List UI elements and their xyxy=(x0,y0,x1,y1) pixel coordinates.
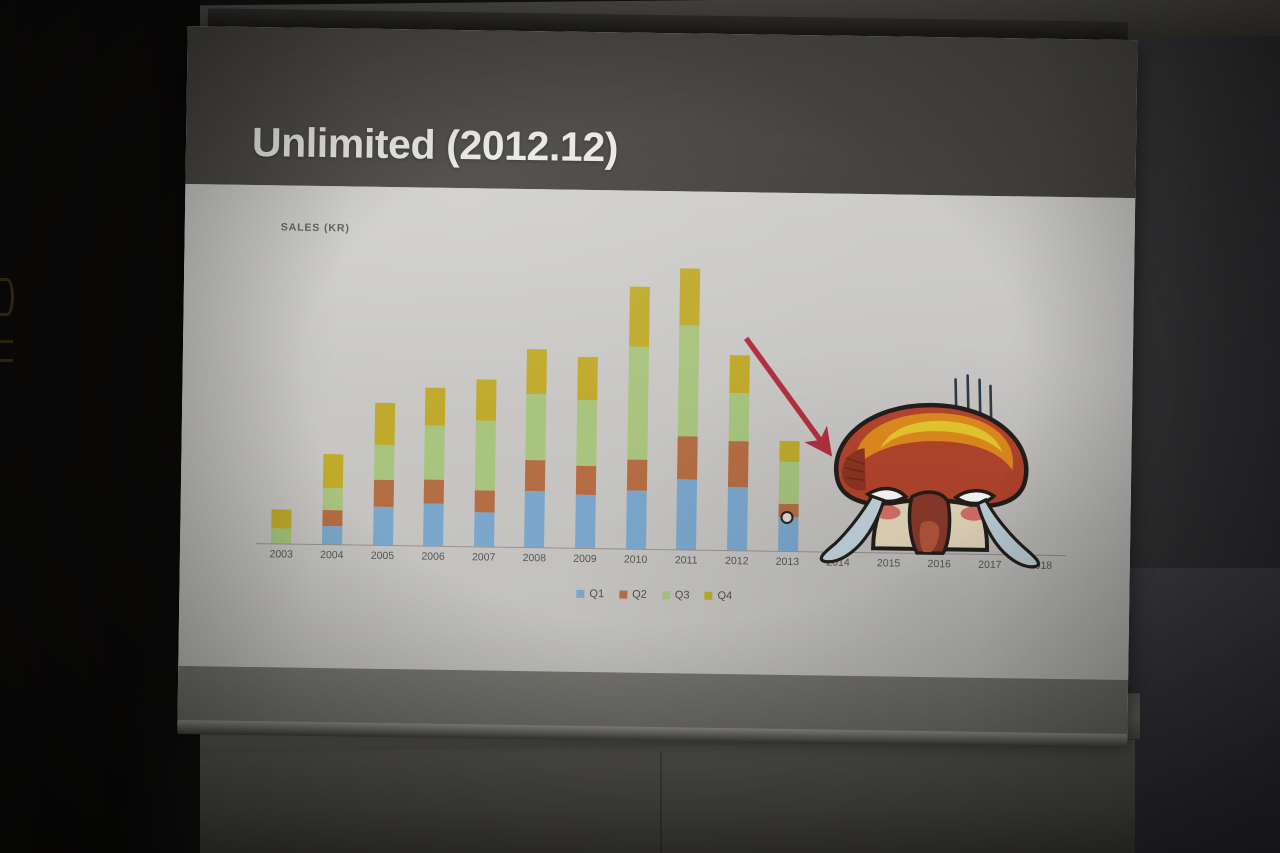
legend-label: Q3 xyxy=(675,589,690,601)
chart-legend: Q1Q2Q3Q4 xyxy=(179,582,1129,608)
legend-swatch-q4-icon xyxy=(704,592,712,600)
crying-mushroom-illustration xyxy=(795,371,1068,575)
bar-2004 xyxy=(322,454,343,544)
bar-segment-q2 xyxy=(677,436,698,479)
bar-segment-q2 xyxy=(525,460,545,492)
bar-segment-q1 xyxy=(524,491,545,547)
bar-segment-q3 xyxy=(576,399,597,465)
bar-2007 xyxy=(474,379,496,547)
presentation-slide: Unlimited (2012.12) SALES (KR) 200320042… xyxy=(177,26,1137,740)
legend-item-q3[interactable]: Q3 xyxy=(662,589,690,601)
x-tick-2007: 2007 xyxy=(458,551,509,564)
bar-segment-q3 xyxy=(526,394,547,460)
legend-swatch-q2-icon xyxy=(619,590,627,598)
bar-segment-q4 xyxy=(323,454,344,489)
bar-segment-q1 xyxy=(474,512,495,547)
legend-swatch-q1-icon xyxy=(576,590,584,598)
legend-item-q4[interactable]: Q4 xyxy=(704,590,732,602)
x-tick-2010: 2010 xyxy=(610,553,661,566)
bar-segment-q3 xyxy=(424,425,445,480)
bar-segment-q1 xyxy=(626,490,647,549)
bar-segment-q3 xyxy=(678,325,700,437)
bar-segment-q2 xyxy=(322,510,342,527)
bar-segment-q4 xyxy=(629,286,650,347)
bar-2010 xyxy=(626,286,650,549)
bar-segment-q4 xyxy=(272,509,292,528)
page-title: Unlimited (2012.12) xyxy=(252,119,619,171)
bar-segment-q3 xyxy=(627,347,649,460)
legend-swatch-q3-icon xyxy=(662,591,670,599)
x-tick-2012: 2012 xyxy=(711,555,762,568)
lower-wall xyxy=(175,740,1135,853)
bar-segment-q4 xyxy=(527,349,548,394)
wall-seam xyxy=(660,752,662,852)
x-tick-2003: 2003 xyxy=(256,548,307,561)
legend-item-q1[interactable]: Q1 xyxy=(576,588,604,600)
left-dark-wall xyxy=(0,0,200,853)
projection-screen-assembly: Unlimited (2012.12) SALES (KR) 200320042… xyxy=(177,8,1138,754)
legend-label: Q4 xyxy=(717,590,732,602)
bar-segment-q2 xyxy=(576,465,596,494)
bar-2009 xyxy=(575,356,598,548)
bar-segment-q2 xyxy=(474,491,494,513)
bar-2008 xyxy=(524,349,547,547)
x-tick-2004: 2004 xyxy=(306,549,357,562)
bar-segment-q2 xyxy=(373,480,393,507)
projection-screen-surface: Unlimited (2012.12) SALES (KR) 200320042… xyxy=(177,26,1137,740)
legend-label: Q2 xyxy=(632,589,647,601)
gold-wall-marking-secondary-icon xyxy=(0,340,13,362)
legend-label: Q1 xyxy=(589,588,604,600)
bar-segment-q3 xyxy=(475,421,496,491)
bar-segment-q4 xyxy=(425,387,446,425)
legend-item-q2[interactable]: Q2 xyxy=(619,588,647,600)
bar-2005 xyxy=(373,403,395,545)
x-tick-2008: 2008 xyxy=(509,552,560,565)
bar-segment-q3 xyxy=(323,488,343,510)
stacked-bar-chart: SALES (KR) 20032004200520062007200820092… xyxy=(178,184,1135,680)
bar-segment-q1 xyxy=(322,526,342,544)
bar-segment-q1 xyxy=(727,487,748,551)
bar-segment-q2 xyxy=(424,480,444,504)
bar-segment-q1 xyxy=(373,507,394,545)
y-axis-label: SALES (KR) xyxy=(281,221,350,234)
conference-room-scene: Unlimited (2012.12) SALES (KR) 200320042… xyxy=(0,0,1280,853)
bar-2006 xyxy=(423,387,445,546)
tear-droplet-icon xyxy=(780,511,793,524)
bar-segment-q4 xyxy=(680,268,701,325)
slide-header-band: Unlimited (2012.12) xyxy=(185,26,1137,198)
x-tick-2006: 2006 xyxy=(408,550,459,563)
bar-segment-q1 xyxy=(575,495,596,549)
slide-body: SALES (KR) 20032004200520062007200820092… xyxy=(178,184,1135,680)
gold-wall-marking-icon xyxy=(0,278,14,316)
right-wall-lower-panel xyxy=(1128,568,1280,853)
bar-segment-q4 xyxy=(476,379,497,421)
bar-2003 xyxy=(271,509,292,544)
bar-segment-q3 xyxy=(271,528,291,543)
bar-2011 xyxy=(676,268,700,550)
x-tick-2009: 2009 xyxy=(560,553,611,566)
x-tick-2011: 2011 xyxy=(661,554,712,567)
bar-segment-q4 xyxy=(577,356,598,399)
bar-segment-q1 xyxy=(676,480,697,550)
bar-segment-q4 xyxy=(374,403,395,445)
x-tick-2005: 2005 xyxy=(357,550,408,563)
bar-segment-q1 xyxy=(423,504,444,546)
bar-segment-q2 xyxy=(627,460,647,491)
bar-segment-q3 xyxy=(374,445,395,481)
